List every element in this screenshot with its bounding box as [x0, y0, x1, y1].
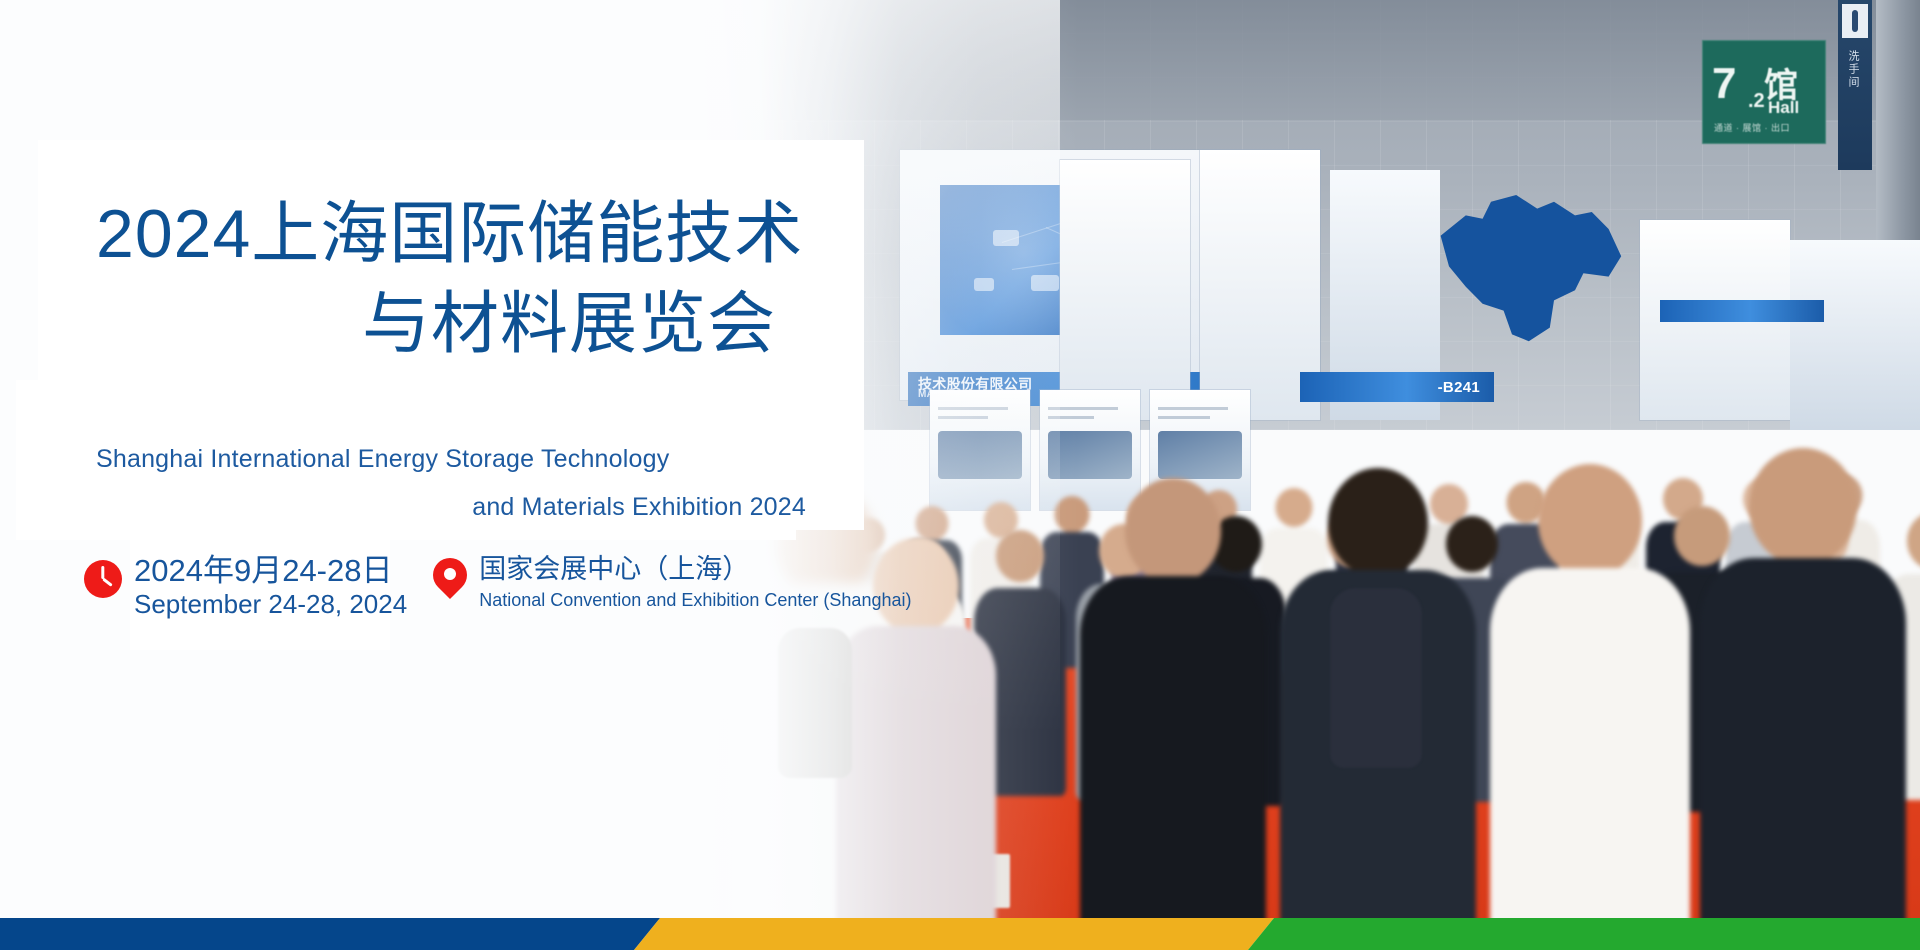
- event-title: 2024上海国际储能技术 与材料展览会: [96, 190, 906, 370]
- bottom-color-bar: [0, 918, 1920, 950]
- event-date-texts: 2024年9月24-28日 September 24-28, 2024: [134, 552, 407, 620]
- clock-icon: [84, 560, 122, 598]
- event-subtitle: Shanghai International Energy Storage Te…: [96, 436, 926, 531]
- event-venue-en: National Convention and Exhibition Cente…: [479, 584, 911, 612]
- bottom-bar-segment-blue: [0, 918, 660, 950]
- location-pin-icon: [433, 558, 467, 604]
- event-date-en: September 24-28, 2024: [134, 589, 407, 621]
- title-line-1: 2024上海国际储能技术: [96, 190, 906, 280]
- banner-content: 2024上海国际储能技术 与材料展览会 Shanghai Internation…: [0, 0, 1920, 918]
- event-date-item: 2024年9月24-28日 September 24-28, 2024: [84, 552, 407, 620]
- event-date-cn: 2024年9月24-28日: [134, 554, 407, 589]
- bottom-bar-segment-gold: [634, 918, 1274, 950]
- event-venue-item: 国家会展中心（上海） National Convention and Exhib…: [433, 552, 911, 612]
- exhibition-banner: 7 .2 馆 Hall 通道 · 展馆 · 出口 洗手间 技术股份有限公司: [0, 0, 1920, 950]
- event-venue-texts: 国家会展中心（上海） National Convention and Exhib…: [479, 552, 911, 612]
- title-line-2: 与材料展览会: [96, 280, 906, 370]
- event-venue-cn: 国家会展中心（上海）: [479, 554, 911, 584]
- event-info-row: 2024年9月24-28日 September 24-28, 2024 国家会展…: [84, 552, 911, 620]
- subtitle-line-1: Shanghai International Energy Storage Te…: [96, 436, 926, 484]
- subtitle-line-2: and Materials Exhibition 2024: [96, 484, 926, 532]
- bottom-bar-segment-green: [1248, 918, 1920, 950]
